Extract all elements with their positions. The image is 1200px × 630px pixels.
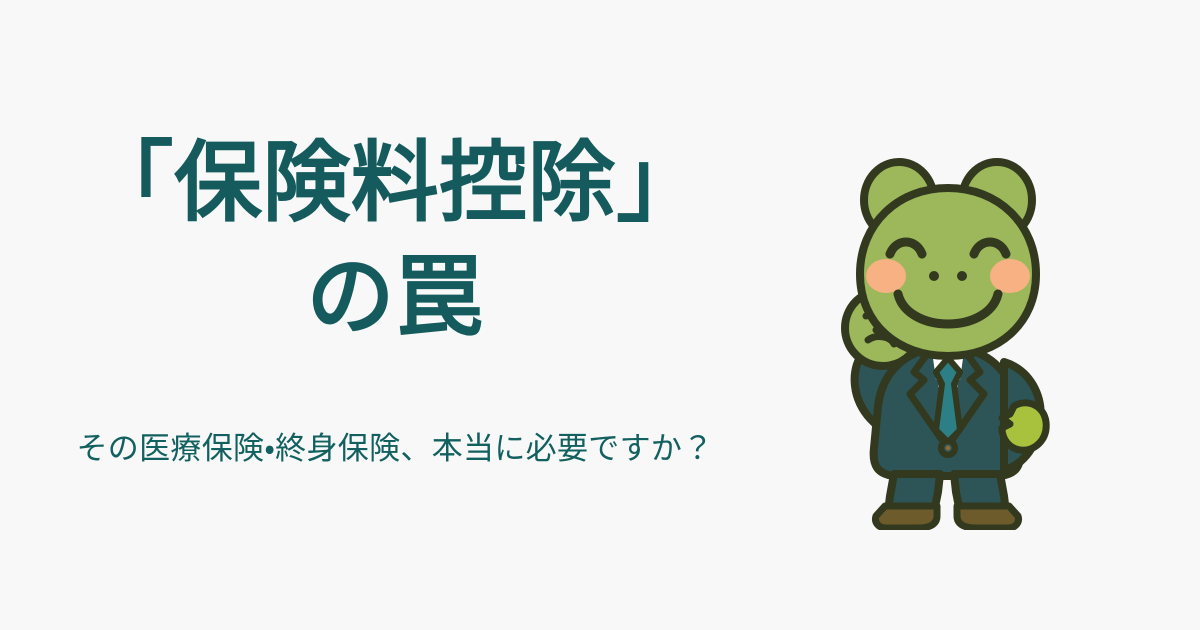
page-title: 「保険料控除」 の罠 bbox=[0, 126, 790, 355]
mascot-nostril-right bbox=[957, 271, 967, 281]
mascot-nostril-left bbox=[929, 271, 939, 281]
mascot-resting-hand bbox=[1002, 403, 1046, 450]
page-title-line-2: の罠 bbox=[0, 240, 790, 354]
page-title-line-1: 「保険料控除」 bbox=[0, 126, 790, 240]
mascot-suit-body bbox=[874, 348, 1047, 476]
frog-businessman-mascot bbox=[782, 148, 1102, 530]
eyecatch-card: 「保険料控除」 の罠 その医療保険・終身保険、本当に必要ですか？ bbox=[0, 0, 1200, 630]
mascot-head bbox=[860, 162, 1036, 356]
mascot-blush-right bbox=[990, 259, 1030, 293]
page-subtitle: その医療保険・終身保険、本当に必要ですか？ bbox=[0, 428, 790, 471]
mascot-blush-left bbox=[866, 259, 906, 293]
mascot-shoes bbox=[875, 506, 1018, 528]
mascot-necktie bbox=[936, 358, 960, 442]
text-block: 「保険料控除」 の罠 その医療保険・終身保険、本当に必要ですか？ bbox=[0, 0, 790, 630]
